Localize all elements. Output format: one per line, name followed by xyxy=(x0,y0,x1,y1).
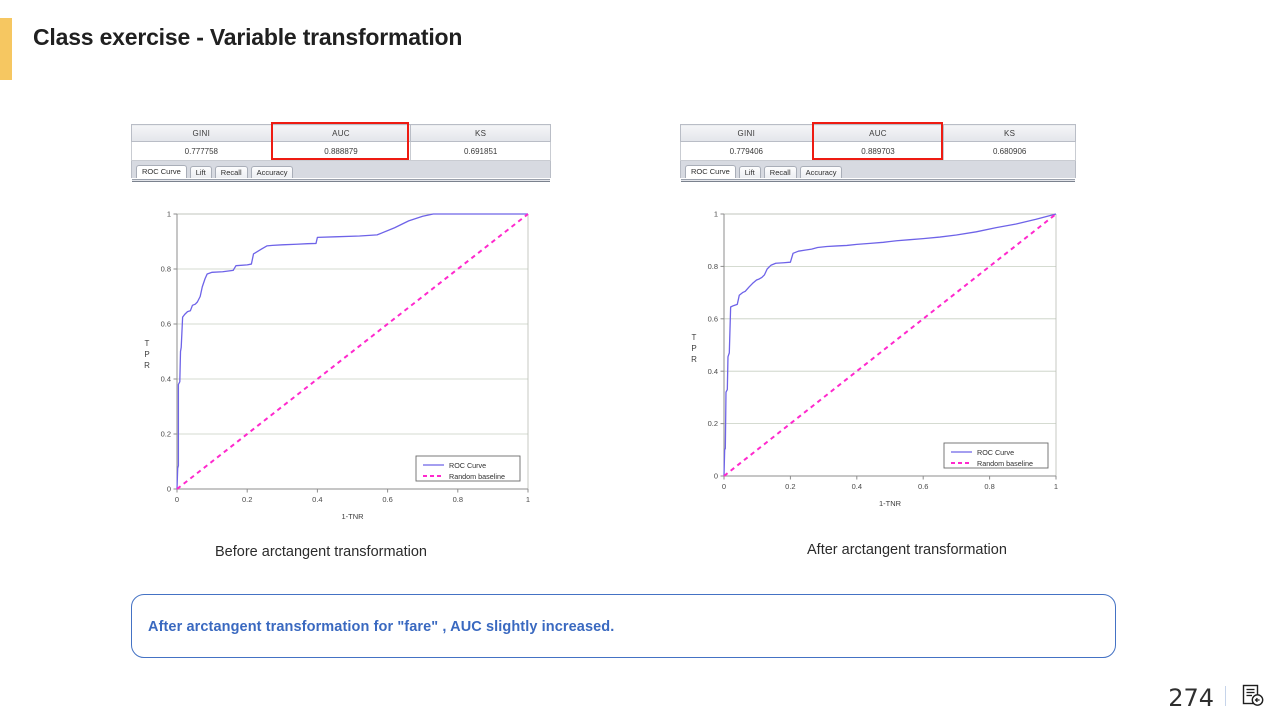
panel-before: GINI AUC KS 0.777758 0.888879 0.691851 R… xyxy=(131,124,551,534)
legend-label: ROC Curve xyxy=(977,448,1014,457)
tab-accuracy[interactable]: Accuracy xyxy=(800,166,843,178)
y-axis-label-char: P xyxy=(144,350,149,359)
tab-lift[interactable]: Lift xyxy=(190,166,212,178)
x-tick-label: 0.8 xyxy=(453,495,463,504)
tab-recall[interactable]: Recall xyxy=(764,166,797,178)
y-tick-label: 0 xyxy=(167,485,171,494)
x-axis-label: 1-TNR xyxy=(341,512,364,521)
page-number: 274 xyxy=(1168,684,1214,712)
table-row: 0.777758 0.888879 0.691851 xyxy=(132,142,551,161)
y-axis-label-char: T xyxy=(692,333,697,342)
y-tick-label: 0.6 xyxy=(708,314,718,323)
x-tick-label: 0 xyxy=(175,495,179,504)
x-tick-label: 0.4 xyxy=(312,495,322,504)
chart-after: 00.20.40.60.8100.20.40.60.811-TNRTPRROC … xyxy=(680,194,1076,534)
page-title: Class exercise - Variable transformation xyxy=(33,24,462,51)
y-axis-label-char: R xyxy=(144,361,150,370)
y-axis-label-char: T xyxy=(145,339,150,348)
metric-header-gini: GINI xyxy=(132,125,272,142)
metric-value-auc: 0.889703 xyxy=(812,142,944,161)
title-accent-bar xyxy=(0,18,12,80)
y-tick-label: 0.6 xyxy=(161,320,171,329)
chart-legend: ROC CurveRandom baseline xyxy=(416,456,520,481)
metric-value-ks: 0.691851 xyxy=(411,142,551,161)
legend-label: Random baseline xyxy=(977,459,1033,468)
y-axis-label-char: R xyxy=(691,355,697,364)
table-header-row: GINI AUC KS xyxy=(132,125,551,142)
caption-after: After arctangent transformation xyxy=(807,542,1007,558)
x-tick-label: 0.2 xyxy=(242,495,252,504)
metric-header-auc: AUC xyxy=(812,125,944,142)
caption-before: Before arctangent transformation xyxy=(215,544,427,560)
y-tick-label: 0.4 xyxy=(161,375,171,384)
y-tick-label: 0.8 xyxy=(708,262,718,271)
metric-header-ks: KS xyxy=(411,125,551,142)
footer-divider xyxy=(1225,686,1226,706)
x-tick-label: 1 xyxy=(1054,482,1058,491)
tab-strip-after: ROC Curve Lift Recall Accuracy xyxy=(680,161,1076,178)
tab-roc-curve[interactable]: ROC Curve xyxy=(136,165,187,178)
series-random-baseline xyxy=(724,214,1056,476)
metric-table-after: GINI AUC KS 0.779406 0.889703 0.680906 xyxy=(680,124,1076,161)
y-tick-label: 1 xyxy=(714,210,718,219)
return-to-document-icon[interactable] xyxy=(1240,683,1266,709)
legend-label: Random baseline xyxy=(449,472,505,481)
y-tick-label: 1 xyxy=(167,210,171,219)
roc-chart-svg-after: 00.20.40.60.8100.20.40.60.811-TNRTPRROC … xyxy=(680,194,1076,534)
x-tick-label: 0.2 xyxy=(785,482,795,491)
metric-table-before: GINI AUC KS 0.777758 0.888879 0.691851 xyxy=(131,124,551,161)
metric-header-ks: KS xyxy=(944,125,1076,142)
metric-value-gini: 0.777758 xyxy=(132,142,272,161)
chart-legend: ROC CurveRandom baseline xyxy=(944,443,1048,468)
y-tick-label: 0.2 xyxy=(708,419,718,428)
tab-roc-curve[interactable]: ROC Curve xyxy=(685,165,736,178)
y-tick-label: 0.2 xyxy=(161,430,171,439)
tab-strip-before: ROC Curve Lift Recall Accuracy xyxy=(131,161,551,178)
x-tick-label: 0.6 xyxy=(382,495,392,504)
metric-value-auc: 0.888879 xyxy=(271,142,411,161)
y-tick-label: 0.4 xyxy=(708,367,718,376)
tab-recall[interactable]: Recall xyxy=(215,166,248,178)
table-header-row: GINI AUC KS xyxy=(681,125,1076,142)
tab-lift[interactable]: Lift xyxy=(739,166,761,178)
metric-header-auc: AUC xyxy=(271,125,411,142)
chart-before: 00.20.40.60.8100.20.40.60.811-TNRTPRROC … xyxy=(131,194,551,534)
metric-header-gini: GINI xyxy=(681,125,813,142)
callout-text: After arctangent transformation for "far… xyxy=(148,619,614,635)
x-tick-label: 0 xyxy=(722,482,726,491)
series-random-baseline xyxy=(177,214,528,489)
y-tick-label: 0.8 xyxy=(161,265,171,274)
x-axis-label: 1-TNR xyxy=(879,499,902,508)
x-tick-label: 0.6 xyxy=(918,482,928,491)
tab-accuracy[interactable]: Accuracy xyxy=(251,166,294,178)
roc-chart-svg-before: 00.20.40.60.8100.20.40.60.811-TNRTPRROC … xyxy=(131,194,551,534)
metric-value-ks: 0.680906 xyxy=(944,142,1076,161)
legend-label: ROC Curve xyxy=(449,461,486,470)
x-tick-label: 0.8 xyxy=(984,482,994,491)
table-row: 0.779406 0.889703 0.680906 xyxy=(681,142,1076,161)
y-axis-label-char: P xyxy=(691,344,696,353)
x-tick-label: 0.4 xyxy=(852,482,862,491)
x-tick-label: 1 xyxy=(526,495,530,504)
y-tick-label: 0 xyxy=(714,472,718,481)
metric-value-gini: 0.779406 xyxy=(681,142,813,161)
panel-after: GINI AUC KS 0.779406 0.889703 0.680906 R… xyxy=(680,124,1076,534)
